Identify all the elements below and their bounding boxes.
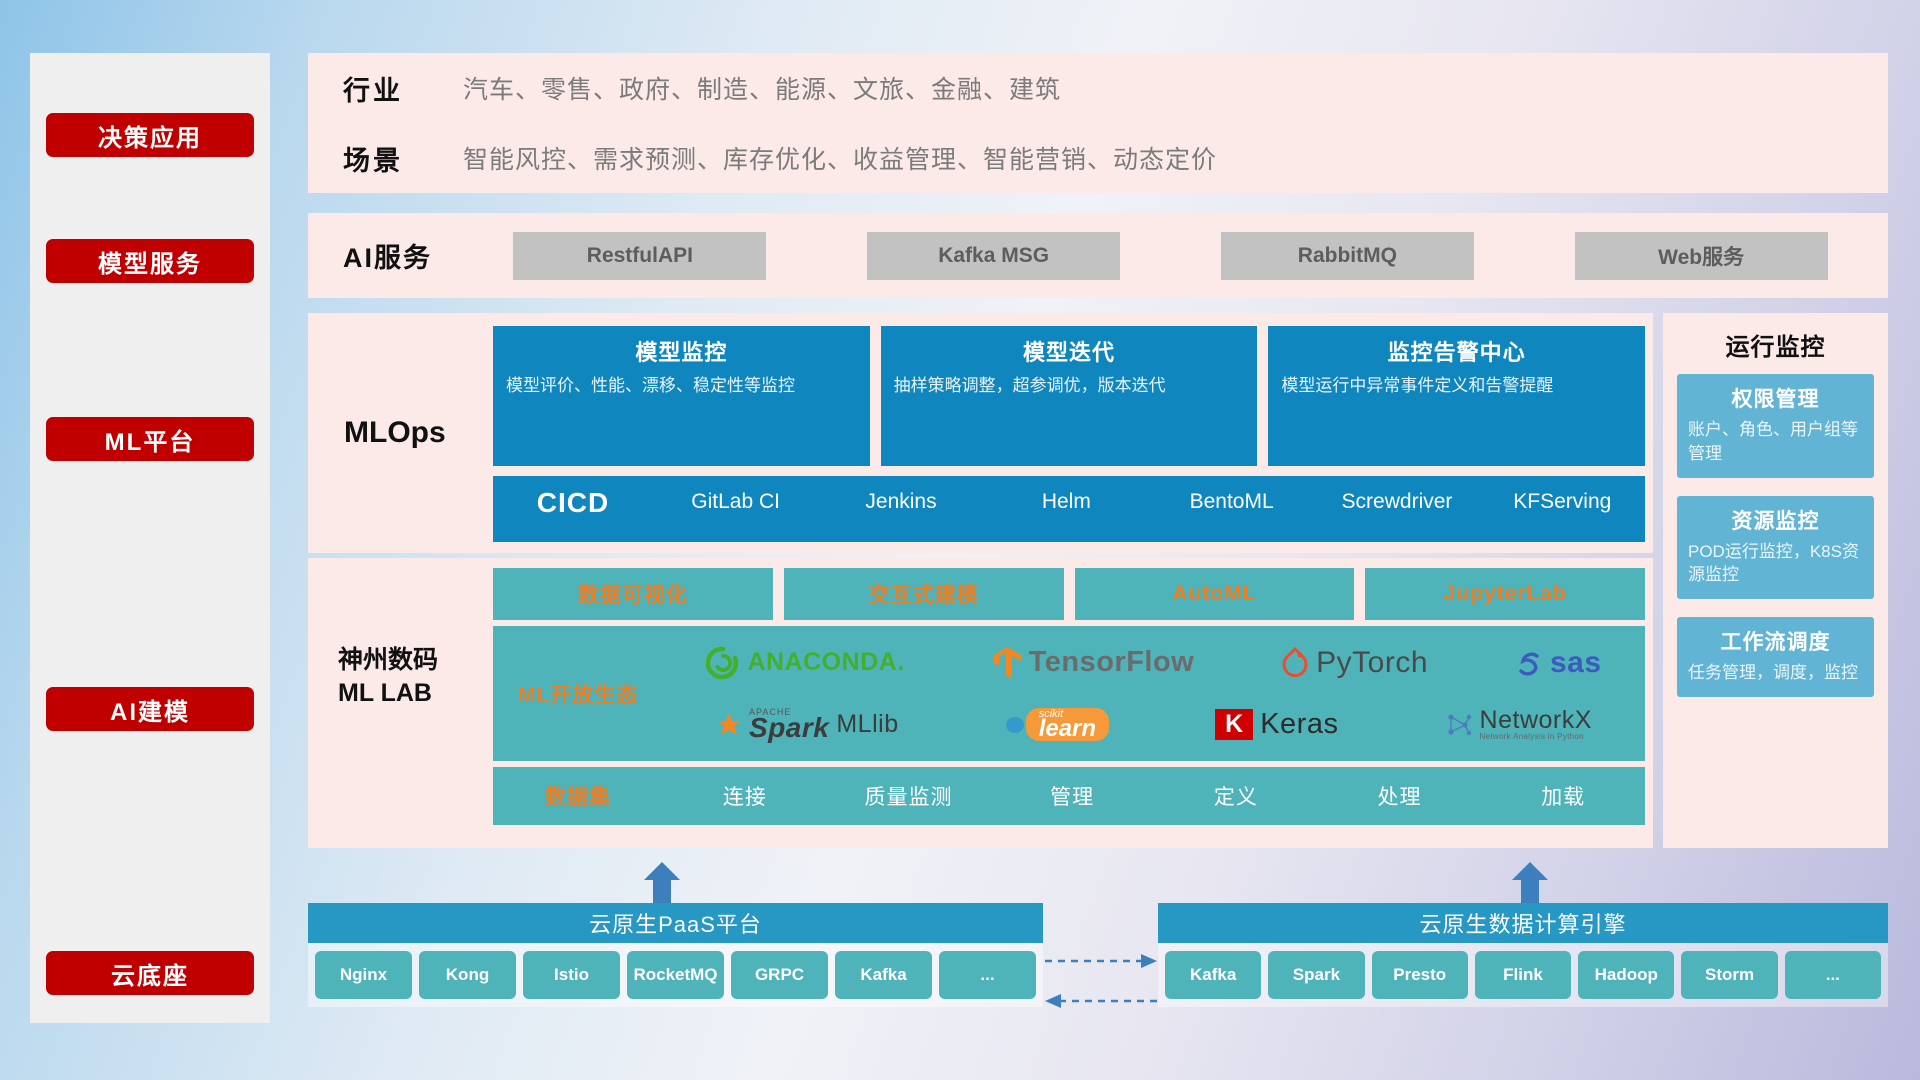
dataset-item-process[interactable]: 处理	[1318, 781, 1482, 811]
cicd-title: CICD	[493, 487, 653, 519]
rail-tag-model-service[interactable]: 模型服务	[46, 239, 254, 283]
cloud-data-engine-chip-list: Kafka Spark Presto Flink Hadoop Storm ..…	[1158, 943, 1888, 1007]
bidirectional-dashed-arrows-icon	[1045, 945, 1157, 1025]
cicd-item-helm[interactable]: Helm	[984, 487, 1149, 515]
mllib-logo-text: MLlib	[836, 710, 898, 739]
industry-values: 汽车、零售、政府、制造、能源、文旅、金融、建筑	[463, 70, 1061, 106]
data-chip-spark[interactable]: Spark	[1268, 951, 1364, 999]
sas-glyph	[1515, 649, 1543, 677]
pytorch-logo: PyTorch	[1281, 646, 1428, 680]
tensorflow-logo: TensorFlow	[992, 646, 1195, 680]
rail-tag-label: 模型服务	[98, 244, 202, 279]
card-desc: POD运行监控，K8S资源监控	[1688, 540, 1863, 588]
mlops-card-model-iteration[interactable]: 模型迭代 抽样策略调整，超参调优，版本迭代	[881, 326, 1258, 466]
monitoring-card-permission[interactable]: 权限管理 账户、角色、用户组等管理	[1677, 374, 1874, 478]
cicd-item-gitlab-ci[interactable]: GitLab CI	[653, 487, 818, 515]
networkx-logo-text: NetworkX	[1480, 708, 1592, 733]
data-chip-more[interactable]: ...	[1785, 951, 1881, 999]
ai-service-chip-list: RestfulAPI Kafka MSG RabbitMQ Web服务	[463, 232, 1888, 280]
cicd-bar: CICD GitLab CI Jenkins Helm BentoML Scre…	[493, 476, 1645, 542]
mlops-card-model-monitoring[interactable]: 模型监控 模型评价、性能、漂移、稳定性等监控	[493, 326, 870, 466]
cicd-item-kfserving[interactable]: KFServing	[1480, 487, 1645, 515]
card-title: 资源监控	[1688, 505, 1863, 535]
sas-logo-text: sas	[1550, 646, 1602, 680]
ml-lab-tool-data-visualization[interactable]: 数据可视化	[493, 568, 773, 620]
tensorflow-glyph	[992, 646, 1022, 680]
card-desc: 账户、角色、用户组等管理	[1688, 418, 1863, 466]
scikit-learn-logo: scikit learn	[1005, 708, 1109, 742]
rail-tag-cloud-base[interactable]: 云底座	[46, 951, 254, 995]
ai-service-label: AI服务	[343, 236, 463, 275]
keras-logo: K Keras	[1215, 708, 1338, 741]
dataset-label: 数据集	[493, 781, 663, 811]
ml-lab-label-line2: ML LAB	[338, 677, 488, 710]
dataset-item-connect[interactable]: 连接	[663, 781, 827, 811]
cloud-chip-rocketmq[interactable]: RocketMQ	[627, 951, 724, 999]
cicd-item-bentoml[interactable]: BentoML	[1149, 487, 1314, 515]
cloud-chip-kong[interactable]: Kong	[419, 951, 516, 999]
rail-tag-label: 决策应用	[98, 118, 202, 153]
spark-star-glyph	[716, 712, 742, 738]
ml-lab-tool-list: 数据可视化 交互式建模 AutoML JupyterLab	[493, 568, 1645, 620]
ml-lab-tool-jupyterlab[interactable]: JupyterLab	[1365, 568, 1645, 620]
keras-logo-text: Keras	[1260, 708, 1338, 741]
cicd-item-list: GitLab CI Jenkins Helm BentoML Screwdriv…	[653, 487, 1645, 515]
cloud-paas-chip-list: Nginx Kong Istio RocketMQ GRPC Kafka ...	[308, 943, 1043, 1007]
industry-label: 行业	[343, 69, 463, 108]
rail-tag-decision-app[interactable]: 决策应用	[46, 113, 254, 157]
data-chip-kafka[interactable]: Kafka	[1165, 951, 1261, 999]
cloud-chip-nginx[interactable]: Nginx	[315, 951, 412, 999]
ml-lab-panel: 神州数码 ML LAB 数据可视化 交互式建模 AutoML JupyterLa…	[308, 558, 1653, 848]
cloud-chip-kafka[interactable]: Kafka	[835, 951, 932, 999]
dataset-item-quality[interactable]: 质量监测	[827, 781, 991, 811]
layer-rail: 决策应用 模型服务 ML平台 AI建模 云底座	[30, 53, 270, 1023]
networkx-sub: Network Analysis in Python	[1480, 733, 1592, 741]
pytorch-glyph	[1281, 647, 1309, 679]
networkx-glyph	[1445, 712, 1473, 738]
up-arrow-icon-paas	[640, 860, 684, 904]
mlops-card-alert-center[interactable]: 监控告警中心 模型运行中异常事件定义和告警提醒	[1268, 326, 1645, 466]
dataset-item-define[interactable]: 定义	[1154, 781, 1318, 811]
ai-service-chip-kafka-msg[interactable]: Kafka MSG	[867, 232, 1120, 280]
cloud-chip-more[interactable]: ...	[939, 951, 1036, 999]
dataset-item-load[interactable]: 加载	[1481, 781, 1645, 811]
cloud-paas-group: 云原生PaaS平台 Nginx Kong Istio RocketMQ GRPC…	[308, 903, 1043, 1007]
scenario-values: 智能风控、需求预测、库存优化、收益管理、智能营销、动态定价	[463, 140, 1217, 176]
dataset-item-list: 连接 质量监测 管理 定义 处理 加载	[663, 781, 1645, 811]
anaconda-logo: ANACONDA.	[706, 646, 904, 680]
mlops-panel: MLOps 模型监控 模型评价、性能、漂移、稳定性等监控 模型迭代 抽样策略调整…	[308, 313, 1653, 553]
ml-lab-label: 神州数码 ML LAB	[338, 644, 488, 709]
up-arrow-icon-data-engine	[1508, 860, 1552, 904]
data-chip-storm[interactable]: Storm	[1681, 951, 1777, 999]
rail-tag-ai-modeling[interactable]: AI建模	[46, 687, 254, 731]
dataset-row: 数据集 连接 质量监测 管理 定义 处理 加载	[493, 767, 1645, 825]
spark-logo-text: Spark	[749, 716, 829, 740]
networkx-wordmark: NetworkX Network Analysis in Python	[1480, 708, 1592, 741]
ai-service-chip-restfulapi[interactable]: RestfulAPI	[513, 232, 766, 280]
ml-lab-tool-interactive-modeling[interactable]: 交互式建模	[784, 568, 1064, 620]
cloud-data-engine-title: 云原生数据计算引擎	[1158, 903, 1888, 943]
ecosystem-logo-row-2: APACHE Spark MLlib scikit	[663, 696, 1645, 754]
rail-tag-ml-platform[interactable]: ML平台	[46, 417, 254, 461]
rail-tag-label: AI建模	[110, 692, 190, 727]
spark-wordmark: APACHE Spark	[749, 709, 829, 740]
mlops-card-list: 模型监控 模型评价、性能、漂移、稳定性等监控 模型迭代 抽样策略调整，超参调优，…	[493, 326, 1645, 466]
keras-mark: K	[1215, 709, 1253, 740]
tensorflow-logo-text: TensorFlow	[1029, 646, 1195, 679]
monitoring-title: 运行监控	[1663, 313, 1888, 374]
application-layer-panel: 行业 汽车、零售、政府、制造、能源、文旅、金融、建筑 场景 智能风控、需求预测、…	[308, 53, 1888, 193]
data-chip-flink[interactable]: Flink	[1475, 951, 1571, 999]
card-title: 工作流调度	[1688, 626, 1863, 656]
cicd-item-jenkins[interactable]: Jenkins	[818, 487, 983, 515]
ml-lab-label-line1: 神州数码	[338, 644, 488, 677]
monitoring-card-resource[interactable]: 资源监控 POD运行监控，K8S资源监控	[1677, 496, 1874, 600]
ml-lab-tool-automl[interactable]: AutoML	[1075, 568, 1355, 620]
sas-logo: sas	[1515, 646, 1602, 680]
scikit-learn-pill: scikit learn	[1026, 708, 1109, 742]
card-desc: 模型运行中异常事件定义和告警提醒	[1281, 374, 1632, 398]
card-desc: 抽样策略调整，超参调优，版本迭代	[894, 374, 1245, 398]
card-title: 监控告警中心	[1281, 335, 1632, 367]
data-chip-hadoop[interactable]: Hadoop	[1578, 951, 1674, 999]
pytorch-logo-text: PyTorch	[1316, 646, 1428, 680]
cicd-item-screwdriver[interactable]: Screwdriver	[1314, 487, 1479, 515]
ai-service-chip-web-service[interactable]: Web服务	[1575, 232, 1828, 280]
ai-service-chip-rabbitmq[interactable]: RabbitMQ	[1221, 232, 1474, 280]
ml-ecosystem-label: ML开放生态	[493, 679, 663, 709]
rail-tag-label: ML平台	[105, 422, 196, 457]
ml-ecosystem-row: ML开放生态 ANACONDA.	[493, 626, 1645, 761]
card-desc: 模型评价、性能、漂移、稳定性等监控	[506, 374, 857, 398]
cloud-chip-istio[interactable]: Istio	[523, 951, 620, 999]
anaconda-glyph	[706, 646, 740, 680]
monitoring-panel: 运行监控 权限管理 账户、角色、用户组等管理 资源监控 POD运行监控，K8S资…	[1663, 313, 1888, 848]
anaconda-logo-text: ANACONDA.	[747, 648, 904, 677]
rail-tag-label: 云底座	[111, 956, 189, 991]
ecosystem-logo-row-1: ANACONDA. TensorFlow	[663, 634, 1645, 692]
networkx-logo: NetworkX Network Analysis in Python	[1445, 708, 1592, 741]
apache-spark-mllib-logo: APACHE Spark MLlib	[716, 709, 899, 740]
ai-service-panel: AI服务 RestfulAPI Kafka MSG RabbitMQ Web服务	[308, 213, 1888, 298]
industry-row: 行业 汽车、零售、政府、制造、能源、文旅、金融、建筑	[308, 53, 1888, 123]
card-desc: 任务管理，调度，监控	[1688, 661, 1863, 685]
cloud-data-engine-group: 云原生数据计算引擎 Kafka Spark Presto Flink Hadoo…	[1158, 903, 1888, 1007]
card-title: 模型迭代	[894, 335, 1245, 367]
mlops-label: MLOps	[344, 313, 499, 553]
scenario-label: 场景	[343, 139, 463, 178]
dataset-item-manage[interactable]: 管理	[990, 781, 1154, 811]
scenario-row: 场景 智能风控、需求预测、库存优化、收益管理、智能营销、动态定价	[308, 123, 1888, 193]
monitoring-card-workflow[interactable]: 工作流调度 任务管理，调度，监控	[1677, 617, 1874, 697]
learn-logo-text: learn	[1039, 719, 1096, 739]
cloud-paas-title: 云原生PaaS平台	[308, 903, 1043, 943]
card-title: 权限管理	[1688, 383, 1863, 413]
cloud-chip-grpc[interactable]: GRPC	[731, 951, 828, 999]
data-chip-presto[interactable]: Presto	[1372, 951, 1468, 999]
card-title: 模型监控	[506, 335, 857, 367]
